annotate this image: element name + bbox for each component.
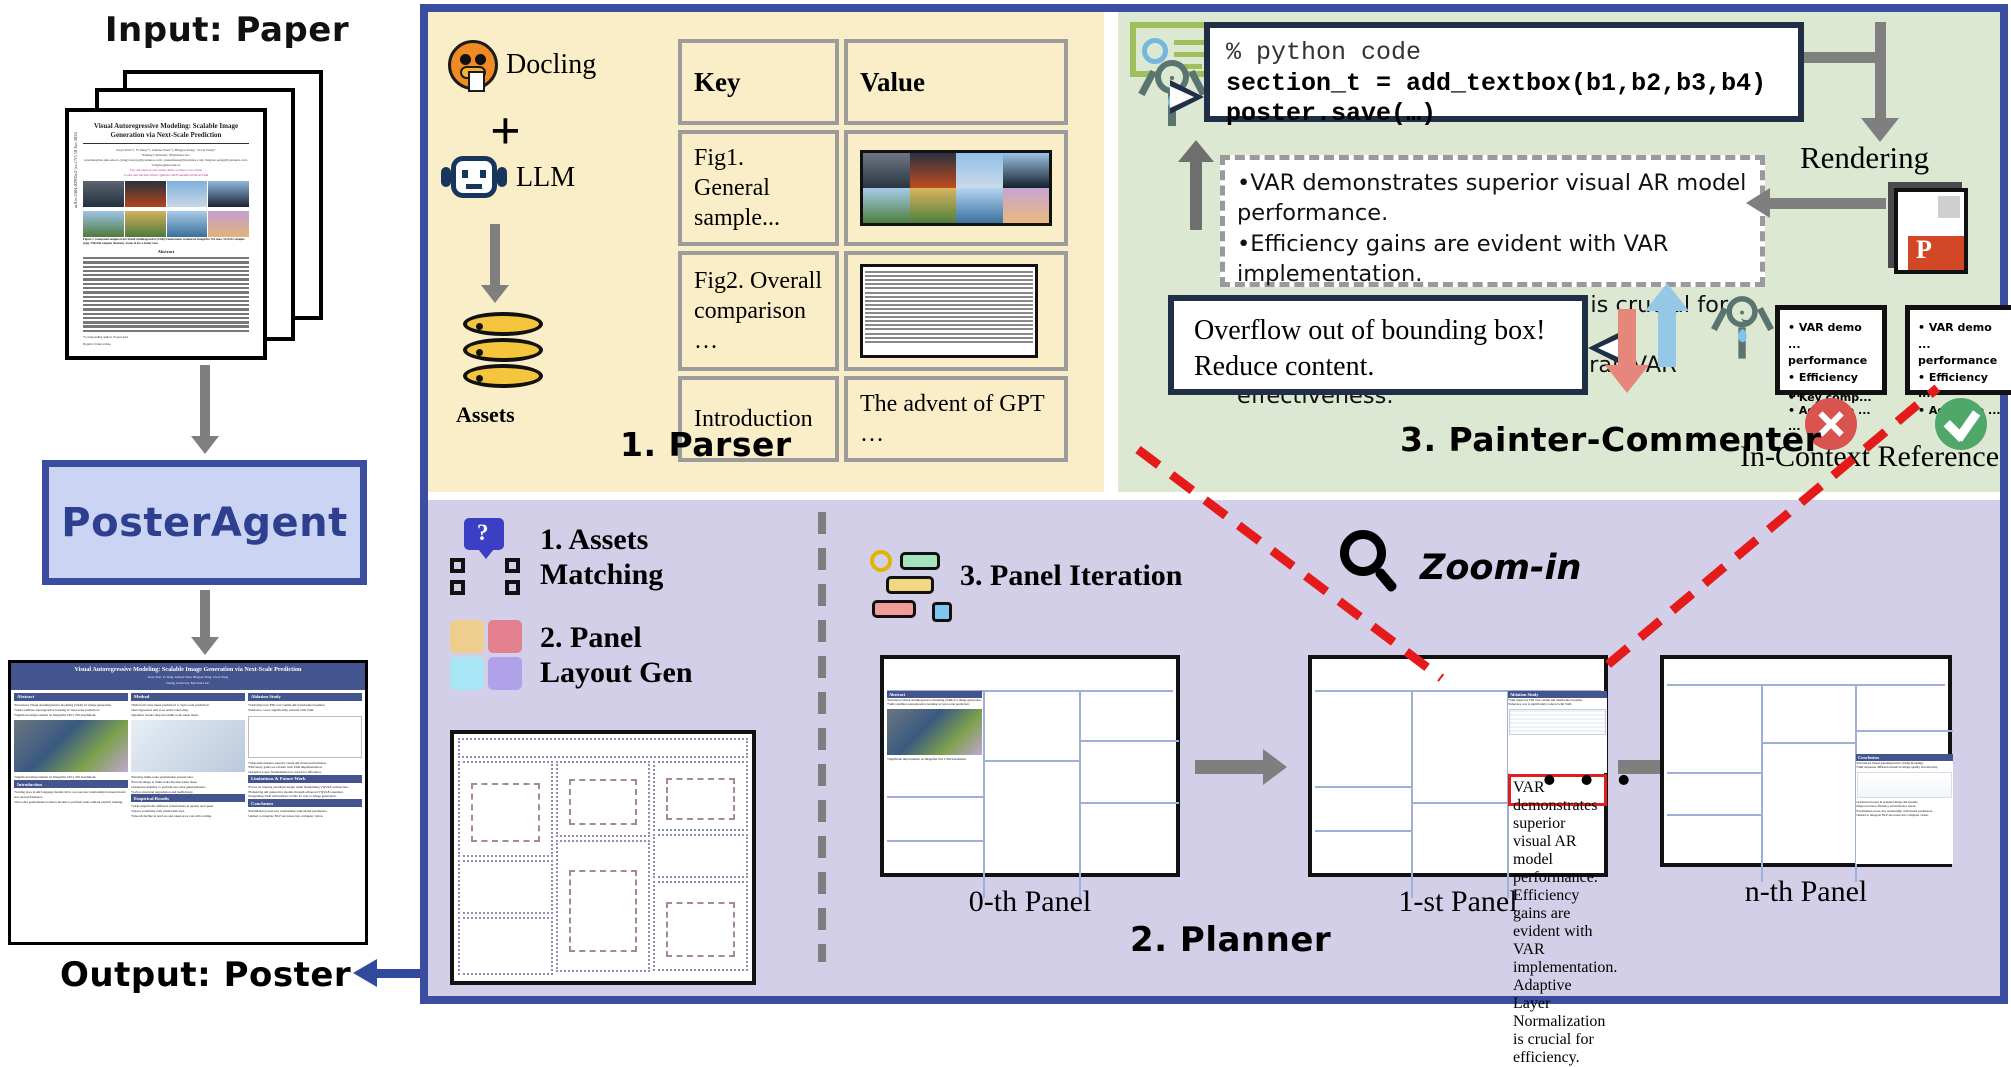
- poster-section-heading: Conclusion: [248, 799, 362, 807]
- panel-iteration-icon: [870, 550, 952, 622]
- zoom-in-label: Zoom-in: [1420, 548, 1581, 588]
- panel-thumbnail-0[interactable]: Abstract •Introduces Visual AutoRegressi…: [880, 655, 1180, 877]
- bullet-item: •VAR demonstrates superior visual AR mod…: [1237, 168, 1748, 229]
- paper-figure-row-1: [83, 181, 249, 207]
- section-heading: Conclusion: [1856, 754, 1953, 761]
- row-value-table: [844, 251, 1068, 371]
- sample-image-grid: [860, 150, 1052, 226]
- reference-card-good: • VAR demo ... performance • Efficiency …: [1905, 305, 2011, 395]
- output-poster-thumbnail[interactable]: Visual Autoregressive Modeling: Scalable…: [8, 660, 368, 945]
- arrow-paper-to-agent: [200, 365, 210, 437]
- poster-column-1: Abstract •Introduces Visual AutoRegressi…: [14, 693, 128, 819]
- assets-label: Assets: [456, 402, 515, 428]
- commenter-person-icon: [1130, 22, 1215, 132]
- table-row[interactable]: Fig1. General sample...: [678, 130, 1068, 246]
- poster-section-body: •Scaling laws in AR language models driv…: [14, 790, 128, 804]
- poster-section-body: •VAR outperforms diffusion transformers …: [131, 804, 245, 818]
- input-paper-label: Input: Paper: [72, 10, 382, 50]
- paper-title: Visual Autoregressive Modeling: Scalable…: [83, 122, 249, 140]
- planner-divider: [818, 512, 826, 962]
- poster-columns: Abstract •Introduces Visual AutoRegressi…: [11, 690, 365, 822]
- step-line-1: 2. Panel: [540, 620, 693, 655]
- llm-label: LLM: [516, 162, 575, 194]
- step-line-2: Matching: [540, 557, 663, 592]
- painter-commenter-title: 3. Painter-Commenter: [1400, 420, 1821, 459]
- paper-abstract-body: [83, 257, 249, 332]
- arrow-agent-to-poster: [200, 590, 210, 638]
- code-speech-balloon: % python code section_t = add_textbox(b1…: [1204, 22, 1804, 122]
- row-key: Fig2. Overall comparison …: [678, 251, 839, 371]
- poster-column-2: Method •Shift from 'next-token predictio…: [131, 693, 245, 819]
- painter-person-icon: [1703, 292, 1781, 393]
- paper-stack: arXiv:2404.02905v2 [cs.CV] 10 Jun 2024 V…: [55, 70, 355, 360]
- overflow-comment-text: Overflow out of bounding box! Reduce con…: [1194, 313, 1562, 386]
- layout-column: [653, 761, 748, 978]
- poster-section-body: •Shift from 'next-token prediction' to '…: [131, 703, 245, 717]
- section-heading: Ablation Study: [1508, 691, 1607, 698]
- column-header-value: Value: [844, 39, 1068, 125]
- paper-emails: keyutian@stu.pku.edu.cn, jiangyi.enjoy@b…: [83, 158, 249, 168]
- docling-row: Docling: [448, 40, 596, 90]
- key-value-table: Key Value Fig1. General sample... Fig2. …: [673, 34, 1073, 467]
- step-line-2: Layout Gen: [540, 655, 693, 690]
- panel-caption-1: 1-st Panel: [1308, 885, 1608, 919]
- parser-panel: Docling + LLM Assets Key Value Fig1. Gen…: [428, 12, 1104, 492]
- ref-line: • VAR demo ...: [1918, 320, 2004, 353]
- poster-section-body: •VAR improves FID over vanilla AR transf…: [248, 703, 362, 713]
- docling-duck-icon: [448, 40, 498, 90]
- code-line-2: section_t = add_textbox(b1,b2,b3,b4): [1226, 69, 1782, 100]
- layout-title-band: [458, 738, 748, 758]
- bullet-item: •Efficiency gains are evident with VAR i…: [1237, 229, 1748, 290]
- docling-label: Docling: [506, 49, 596, 81]
- arrow-llm-to-assets: [490, 224, 500, 286]
- section-body: •Significant improvement on ImageNet 256…: [887, 757, 982, 761]
- panel-caption-n: n-th Panel: [1660, 875, 1952, 909]
- code-line-3: poster.save(…): [1226, 99, 1782, 130]
- generated-bullets-box: •VAR demonstrates superior visual AR mod…: [1220, 155, 1765, 287]
- step-panel-iteration-label: 3. Panel Iteration: [960, 558, 1182, 593]
- layout-columns: [458, 761, 748, 978]
- layout-column: [458, 761, 553, 978]
- panel-section-abstract: Abstract •Introduces Visual AutoRegressi…: [887, 691, 982, 795]
- arrow-code-to-ppt-horz: [1804, 52, 1882, 63]
- arrowhead-left: [1746, 188, 1770, 218]
- poster-section-heading: Introduction: [14, 780, 128, 788]
- llm-row: LLM: [446, 152, 575, 204]
- table-header-row: Key Value: [678, 39, 1068, 125]
- poster-section-heading: Empirical Results: [131, 794, 245, 802]
- section-image: [887, 709, 982, 755]
- assets-matching-icon: ?: [450, 518, 520, 596]
- adjust-arrows-icon: [1608, 285, 1696, 390]
- poster-image: [14, 720, 128, 772]
- poster-authors: Keyu Tian, Yi Jiang, Zehuan Yuan, Bingyu…: [13, 675, 363, 679]
- rendering-label: Rendering: [1800, 140, 1929, 176]
- paper-code-link[interactable]: Codes and models: https://github.com/Fou…: [83, 173, 249, 178]
- section-chart: [1857, 772, 1952, 798]
- poster-affiliations: Peking University, Bytedance Inc.: [13, 681, 363, 685]
- column-header-key: Key: [678, 39, 839, 125]
- row-value-image: [844, 130, 1068, 246]
- poster-section-body: •Focus on training paradigm design while…: [248, 785, 362, 799]
- paper-figure-row-2: [83, 211, 249, 237]
- step-assets-matching-label: 1. Assets Matching: [540, 522, 663, 593]
- panel-grid: Abstract •Introduces Visual AutoRegressi…: [887, 662, 1173, 870]
- parser-title: 1. Parser: [620, 425, 792, 464]
- poster-section-body: •Established power-law relationship with…: [248, 809, 362, 819]
- paper-footer-note: *Corresponding authors. Project lead.: [83, 336, 249, 340]
- paper-preprint-note: Preprint. Under review.: [83, 343, 249, 347]
- poster-diagram: [131, 720, 245, 772]
- section-table: [1509, 709, 1606, 735]
- ref-line: • VAR demo ...: [1788, 320, 1874, 353]
- arrow-panel0-to-panel1: [1195, 760, 1265, 774]
- plus-icon: +: [490, 104, 521, 158]
- panel-section-conclusion: Conclusion •Introduced Visual AutoRegres…: [1856, 754, 1953, 864]
- arrow-code-to-ppt-vert: [1875, 22, 1886, 118]
- section-body: •Introduces Visual AutoRegressive modeli…: [887, 698, 982, 707]
- arrow-feedback-up: [1190, 160, 1202, 230]
- code-line-1: % python code: [1226, 38, 1782, 69]
- paper-abstract-heading: Abstract: [83, 249, 249, 255]
- section-heading: Abstract: [887, 691, 982, 698]
- poster-column-3: Ablation Study •VAR improves FID over va…: [248, 693, 362, 819]
- ref-line: performance: [1788, 353, 1874, 370]
- posteragent-box[interactable]: PosterAgent: [42, 460, 367, 585]
- poster-section-heading: Abstract: [14, 693, 128, 701]
- panel-caption-0: 0-th Panel: [880, 885, 1180, 919]
- poster-section-heading: Method: [131, 693, 245, 701]
- poster-header: Visual Autoregressive Modeling: Scalable…: [11, 663, 365, 690]
- planner-title: 2. Planner: [1130, 920, 1331, 960]
- poster-section-heading: Limitations & Future Work: [248, 775, 362, 783]
- row-value-text: The advent of GPT …: [844, 376, 1068, 462]
- assets-database-icon: [463, 312, 543, 394]
- section-body: •Introduced Visual AutoRegressive (VAR) …: [1856, 761, 1953, 770]
- arrowhead-down: [1861, 118, 1899, 142]
- poster-section-body: •Introduces Visual AutoRegressive modeli…: [14, 703, 128, 717]
- overflow-comment-balloon: Overflow out of bounding box! Reduce con…: [1168, 295, 1588, 395]
- divider: [83, 143, 249, 144]
- layout-column: [556, 761, 651, 978]
- arrow-frame-to-output: [375, 969, 420, 978]
- panel-layout-thumbnail[interactable]: [450, 730, 756, 985]
- poster-title: Visual Autoregressive Modeling: Scalable…: [13, 666, 363, 673]
- output-poster-label: Output: Poster: [60, 955, 351, 995]
- magnifier-icon: [1340, 530, 1404, 594]
- section-body: •VAR improves FID over vanilla AR transf…: [1508, 698, 1607, 707]
- table-row[interactable]: Fig2. Overall comparison …: [678, 251, 1068, 371]
- step-line-1: 1. Assets: [540, 522, 663, 557]
- poster-section-body: •VAR demonstrates superior visual AR mod…: [248, 761, 362, 775]
- panel-thumbnail-n[interactable]: Conclusion •Introduced Visual AutoRegres…: [1660, 655, 1952, 867]
- row-key: Fig1. General sample...: [678, 130, 839, 246]
- poster-section-heading: Ablation Study: [248, 693, 362, 701]
- panel-grid: Conclusion •Introduced Visual AutoRegres…: [1667, 662, 1945, 860]
- comparison-table-image: [860, 264, 1038, 358]
- llm-robot-icon: [446, 152, 502, 204]
- poster-section-body: •Develop multi-scale quantization autoen…: [131, 775, 245, 794]
- paper-figure-caption: Figure 1. Generated samples from Visual …: [83, 238, 249, 246]
- powerpoint-file-icon: P: [1888, 182, 1978, 278]
- ref-line: performance: [1918, 353, 2004, 370]
- highlight-body: VAR demonstrates superior visual AR mode…: [1513, 779, 1602, 1067]
- arrow-ppt-to-bullets: [1768, 198, 1886, 209]
- step-panel-layout-label: 2. Panel Layout Gen: [540, 620, 693, 691]
- paper-arxiv-id: arXiv:2404.02905v2 [cs.CV] 10 Jun 2024: [73, 132, 78, 208]
- posteragent-label: PosterAgent: [61, 500, 347, 546]
- reference-card-bad: • VAR demo ... performance • Efficiency …: [1775, 305, 1887, 395]
- poster-table: [248, 716, 362, 758]
- section-body: •Addressed issues in standard image AR m…: [1856, 800, 1953, 818]
- panel-layout-palette-icon: [450, 620, 522, 690]
- paper-sheet-front: arXiv:2404.02905v2 [cs.CV] 10 Jun 2024 V…: [65, 108, 267, 360]
